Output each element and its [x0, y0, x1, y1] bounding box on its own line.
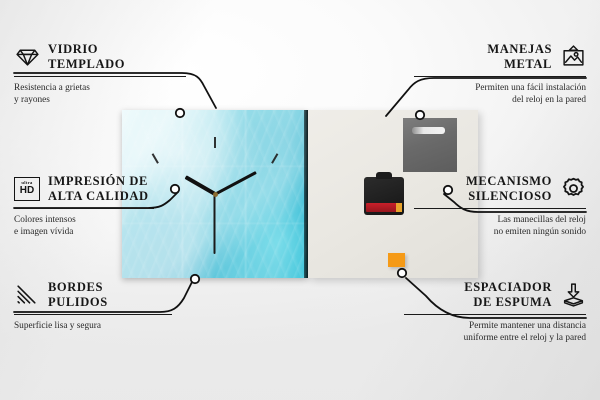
callout-desc-line1: Las manecillas del reloj: [414, 214, 586, 226]
callout-bordes-pulidos: BORDES PULIDOS Superficie lisa y segura: [14, 280, 172, 332]
battery: [366, 203, 400, 212]
callout-divider: [14, 76, 186, 78]
callout-manejas-metal: MANEJAS METAL Permiten una fácil instala…: [414, 42, 586, 106]
callout-desc-line2: y rayones: [14, 94, 186, 106]
diagonal-stripes-icon: [14, 282, 40, 308]
callout-title-line1: MANEJAS: [487, 42, 552, 57]
diamond-icon: [14, 44, 40, 70]
callout-title-line1: VIDRIO: [48, 42, 125, 57]
callout-vidrio-templado: VIDRIO TEMPLADO Resistencia a grietas y …: [14, 42, 186, 106]
hanger-slot: [412, 127, 445, 134]
ultra-hd-icon: ultra HD: [14, 176, 40, 202]
callout-title-line1: MECANISMO: [466, 174, 552, 189]
clock-mechanism: [364, 177, 404, 215]
callout-divider: [404, 314, 586, 316]
infographic-canvas: VIDRIO TEMPLADO Resistencia a grietas y …: [0, 0, 600, 400]
battery-tip: [396, 203, 402, 212]
arrow-down-stack-icon: [560, 282, 586, 308]
foam-spacer: [388, 253, 405, 267]
callout-desc-line2: no emiten ningún sonido: [414, 226, 586, 238]
callout-divider: [414, 76, 586, 78]
callout-desc-line2: e imagen vívida: [14, 226, 154, 238]
callout-desc-line1: Permiten una fácil instalación: [414, 82, 586, 94]
callout-desc-line1: Superficie lisa y segura: [14, 320, 172, 332]
metal-hanger-plate: [403, 118, 457, 172]
callout-title-line2: TEMPLADO: [48, 57, 125, 72]
clock-tick: [214, 137, 216, 148]
callout-desc-line2: del reloj en la pared: [414, 94, 586, 106]
callout-title-line2: SILENCIOSO: [466, 189, 552, 204]
callout-title-line1: ESPACIADOR: [464, 280, 552, 295]
gear-icon: [560, 176, 586, 202]
callout-divider: [14, 314, 172, 316]
callout-title-line2: METAL: [487, 57, 552, 72]
callout-title-line2: PULIDOS: [48, 295, 108, 310]
callout-desc-line1: Colores intensos: [14, 214, 154, 226]
callout-title-line1: BORDES: [48, 280, 108, 295]
callout-mecanismo-silencioso: MECANISMO SILENCIOSO Las manecillas del …: [414, 174, 586, 238]
ultra-hd-large-text: HD: [20, 186, 34, 196]
callout-title-line1: IMPRESIÓN DE: [48, 174, 149, 189]
clock-center-hub: [213, 192, 218, 197]
callout-divider: [14, 208, 154, 210]
callout-title-line2: DE ESPUMA: [464, 295, 552, 310]
callout-desc-line1: Resistencia a grietas: [14, 82, 186, 94]
mechanism-tab: [376, 172, 392, 179]
callout-divider: [414, 208, 586, 210]
callout-espaciador-espuma: ESPACIADOR DE ESPUMA Permite mantener un…: [404, 280, 586, 344]
callout-impresion-alta-calidad: ultra HD IMPRESIÓN DE ALTA CALIDAD Color…: [14, 174, 154, 238]
framed-picture-icon: [560, 44, 586, 70]
callout-desc-line2: uniforme entre el reloj y la pared: [404, 332, 586, 344]
callout-title-line2: ALTA CALIDAD: [48, 189, 149, 204]
callout-desc-line1: Permite mantener una distancia: [404, 320, 586, 332]
